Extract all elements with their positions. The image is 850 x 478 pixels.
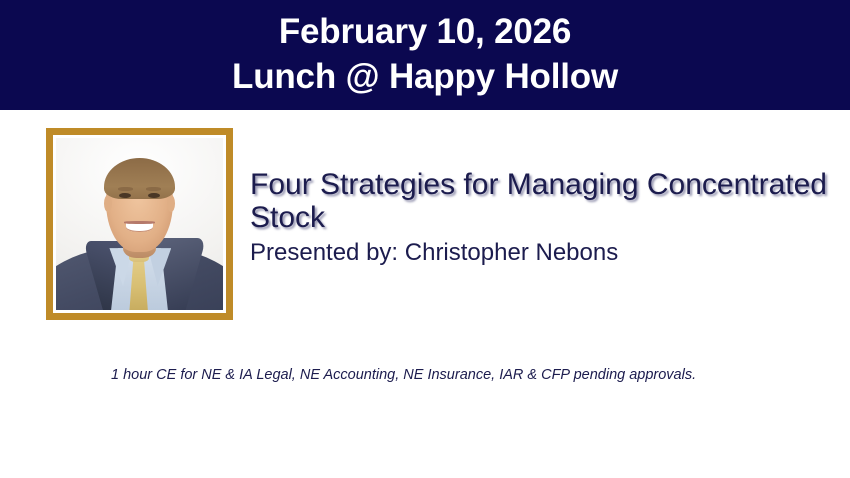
presenter-photo-frame bbox=[46, 128, 233, 320]
presenter-photo bbox=[56, 138, 223, 310]
mouth-line bbox=[124, 221, 154, 223]
event-announcement-slide: February 10, 2026 Lunch @ Happy Hollow bbox=[0, 0, 850, 478]
presentation-title: Four Strategies for Managing Concentrate… bbox=[250, 168, 830, 234]
header-banner: February 10, 2026 Lunch @ Happy Hollow bbox=[0, 0, 850, 110]
title-block: Four Strategies for Managing Concentrate… bbox=[250, 168, 830, 267]
eye-right bbox=[148, 193, 160, 198]
event-date: February 10, 2026 bbox=[279, 9, 571, 54]
mouth-shape bbox=[126, 222, 153, 231]
presenter-name: Presented by: Christopher Nebons bbox=[250, 238, 830, 267]
ce-credit-disclaimer: 1 hour CE for NE & IA Legal, NE Accounti… bbox=[111, 366, 711, 385]
ear-left bbox=[104, 195, 112, 212]
eyebrow-right bbox=[146, 187, 161, 191]
event-venue: Lunch @ Happy Hollow bbox=[232, 54, 618, 99]
eyebrow-left bbox=[118, 187, 133, 191]
